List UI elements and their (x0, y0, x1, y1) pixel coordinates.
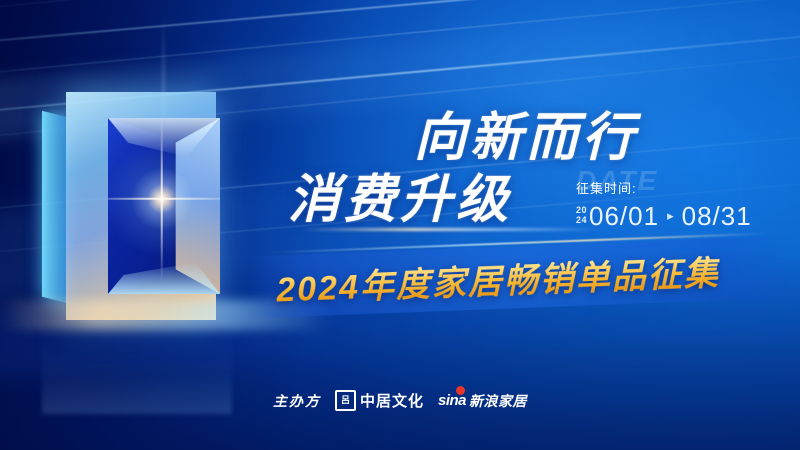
sina-red-dot-icon (456, 386, 465, 395)
footer-sponsor-row: 主办方 呂 中居文化 sina 新浪家居 (0, 390, 800, 411)
date-separator-icon: ▸ (667, 208, 674, 224)
date-year-top: 20 (576, 205, 587, 215)
sina-wordmark-icon: sina (438, 392, 466, 409)
date-end: 08/31 (682, 202, 752, 230)
sponsor-sina[interactable]: sina 新浪家居 (438, 391, 527, 411)
door-left-edge (42, 111, 68, 303)
light-burst-icon (108, 134, 220, 264)
door-frame (66, 92, 216, 320)
date-range-row: 20 24 06/01 ▸ 08/31 (576, 202, 786, 230)
promo-banner: 向新而行 消费升级 DATE 征集时间: 20 24 06/01 ▸ 08/31… (0, 0, 800, 450)
door-opening (108, 118, 220, 294)
date-start: 06/01 (589, 202, 659, 230)
zhongju-logo-icon: 呂 (335, 390, 356, 411)
date-block: DATE 征集时间: 20 24 06/01 ▸ 08/31 (576, 172, 786, 230)
date-label: 征集时间: (576, 180, 786, 198)
organizer-label: 主办方 (273, 391, 321, 411)
date-year: 20 24 (576, 205, 587, 225)
sponsor-zhongju[interactable]: 呂 中居文化 (335, 390, 424, 411)
zhongju-name: 中居文化 (360, 390, 424, 411)
door-portal-graphic (42, 92, 232, 322)
sina-home-name: 新浪家居 (469, 391, 527, 411)
date-year-bottom: 24 (576, 215, 587, 225)
